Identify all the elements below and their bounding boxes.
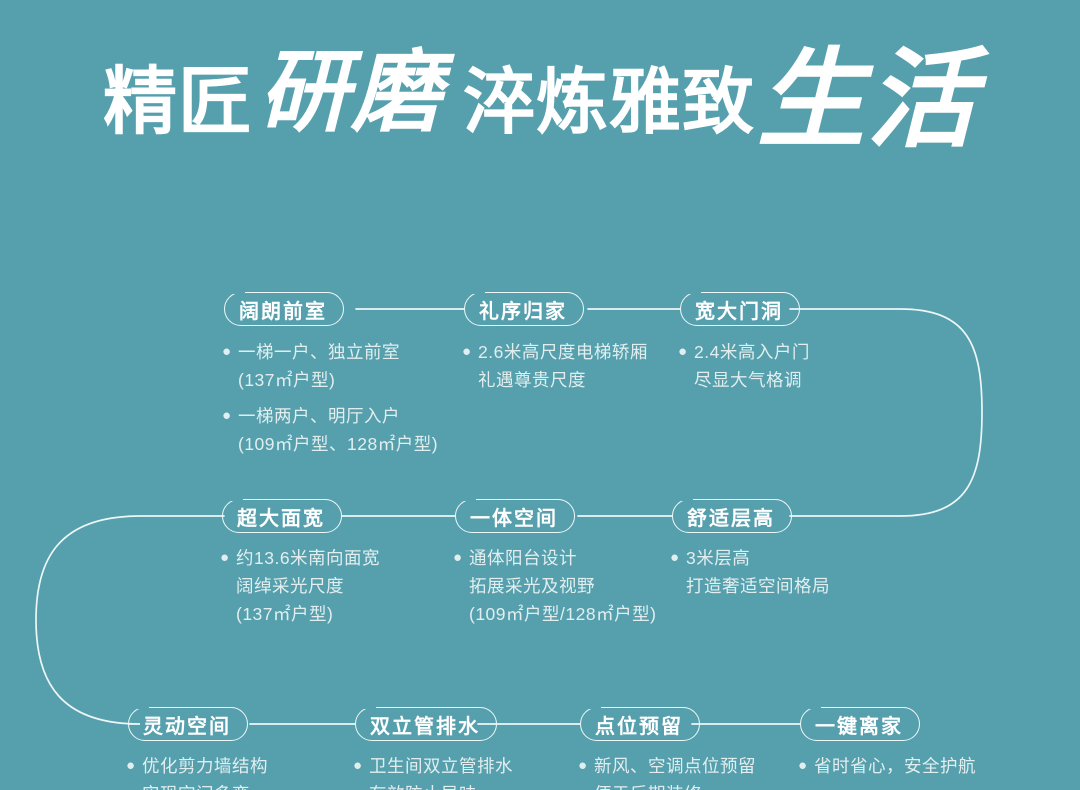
bullet-dot: ● [462,338,478,366]
node-label-text: 阔朗前室 [239,295,327,324]
bullet-subline: ● 有效防止异味 [353,780,583,790]
bullet-subline: ● (137㎡户型) [220,600,470,628]
bullet-dot: ● [670,544,686,572]
bullet-subtext: 有效防止异味 [369,780,583,790]
bullet-subline: ● 实现空间多变 [126,780,356,790]
node-label-text: 舒适层高 [687,502,775,531]
node-label-text: 宽大门洞 [695,295,783,324]
bullet-dot: ● [353,752,369,780]
bullet-dot: ● [798,752,814,780]
node-label-shushicenggao[interactable]: 舒适层高 [672,499,792,533]
node-bullets-lingdongkongjian: ● 优化剪力墙结构 ● 实现空间多变 [126,752,356,790]
node-label-yitikongjian[interactable]: 一体空间 [455,499,575,533]
node-label-yijianlijia[interactable]: 一键离家 [800,707,920,741]
bullet-text: 优化剪力墙结构 [142,752,356,780]
bullet-subline: ● 打造奢适空间格局 [670,572,910,600]
node-label-text: 点位预留 [595,710,683,739]
bullet-subtext: 尽显大气格调 [694,366,908,394]
bullet-text: 省时省心，安全护航 [814,752,1028,780]
bullet-subline: ● 便于后期装修 [578,780,818,790]
bullet-dot: ● [222,402,238,430]
wire-left-uturn [36,516,224,724]
bullet-dot: ● [222,338,238,366]
infographic-canvas: 精匠研磨淬炼雅致生活 [0,0,1080,790]
bullet-subline: ● (137㎡户型) [222,366,452,394]
node-bullets-shushicenggao: ● 3米层高 ● 打造奢适空间格局 [670,544,910,600]
connector-lines [0,0,1080,790]
bullet-subline: ● (109㎡户型/128㎡户型) [453,600,713,628]
bullet-text: 一梯一户、独立前室 [238,338,452,366]
bullet-subtext: 实现空间多变 [142,780,356,790]
node-label-dianweiyuliu[interactable]: 点位预留 [580,707,700,741]
bullet-subtext: 礼遇尊贵尺度 [478,366,692,394]
bullet-subtext: (137㎡户型) [236,600,470,628]
bullet-text: 2.6米高尺度电梯轿厢 [478,338,692,366]
bullet-text: 约13.6米南向面宽 [236,544,470,572]
bullet-item: ● 一梯两户、明厅入户 [222,402,452,430]
node-label-lixuguijia[interactable]: 礼序归家 [464,292,584,326]
node-bullets-kuolangqianshi: ● 一梯一户、独立前室 ● (137㎡户型) ● 一梯两户、明厅入户 ● (10… [222,338,452,458]
node-bullets-kuandamendong: ● 2.4米高入户门 ● 尽显大气格调 [678,338,908,394]
node-label-lingdongkongjian[interactable]: 灵动空间 [128,707,248,741]
bullet-subtext: 打造奢适空间格局 [686,572,910,600]
bullet-subline: ● 礼遇尊贵尺度 [462,366,692,394]
bullet-subtext: (137㎡户型) [238,366,452,394]
node-label-kuolangqianshi[interactable]: 阔朗前室 [224,292,344,326]
bullet-text: 3米层高 [686,544,910,572]
node-label-text: 双立管排水 [370,710,480,739]
bullet-subtext: (109㎡户型/128㎡户型) [469,600,713,628]
node-bullets-chaodamiankuan: ● 约13.6米南向面宽 ● 阔绰采光尺度 ● (137㎡户型) [220,544,470,628]
bullet-subtext: (109㎡户型、128㎡户型) [238,430,452,458]
node-label-text: 一体空间 [470,502,558,531]
bullet-dot: ● [220,544,236,572]
bullet-text: 2.4米高入户门 [694,338,908,366]
bullet-subline: ● 阔绰采光尺度 [220,572,470,600]
bullet-item: ● 约13.6米南向面宽 [220,544,470,572]
bullet-item: ● 优化剪力墙结构 [126,752,356,780]
node-bullets-dianweiyuliu: ● 新风、空调点位预留 ● 便于后期装修 [578,752,818,790]
node-label-text: 灵动空间 [143,710,231,739]
bullet-text: 一梯两户、明厅入户 [238,402,452,430]
bullet-item: ● 2.4米高入户门 [678,338,908,366]
node-label-text: 一键离家 [815,710,903,739]
node-bullets-lixuguijia: ● 2.6米高尺度电梯轿厢 ● 礼遇尊贵尺度 [462,338,692,394]
bullet-item: ● 卫生间双立管排水 [353,752,583,780]
bullet-item: ● 2.6米高尺度电梯轿厢 [462,338,692,366]
bullet-subtext: 便于后期装修 [594,780,818,790]
bullet-item: ● 省时省心，安全护航 [798,752,1028,780]
bullet-dot: ● [453,544,469,572]
node-label-text: 礼序归家 [479,295,567,324]
bullet-text: 新风、空调点位预留 [594,752,818,780]
bullet-subline: ● 尽显大气格调 [678,366,908,394]
node-label-chaodamiankuan[interactable]: 超大面宽 [222,499,342,533]
bullet-dot: ● [578,752,594,780]
node-label-kuandamendong[interactable]: 宽大门洞 [680,292,800,326]
node-bullets-shuangliguanpaishui: ● 卫生间双立管排水 ● 有效防止异味 [353,752,583,790]
bullet-subline: ● (109㎡户型、128㎡户型) [222,430,452,458]
bullet-item: ● 一梯一户、独立前室 [222,338,452,366]
bullet-dot: ● [678,338,694,366]
node-label-text: 超大面宽 [237,502,325,531]
bullet-text: 卫生间双立管排水 [369,752,583,780]
node-label-shuangliguanpaishui[interactable]: 双立管排水 [355,707,497,741]
bullet-dot: ● [126,752,142,780]
node-bullets-yijianlijia: ● 省时省心，安全护航 [798,752,1028,780]
bullet-item: ● 新风、空调点位预留 [578,752,818,780]
bullet-item: ● 3米层高 [670,544,910,572]
bullet-subtext: 阔绰采光尺度 [236,572,470,600]
